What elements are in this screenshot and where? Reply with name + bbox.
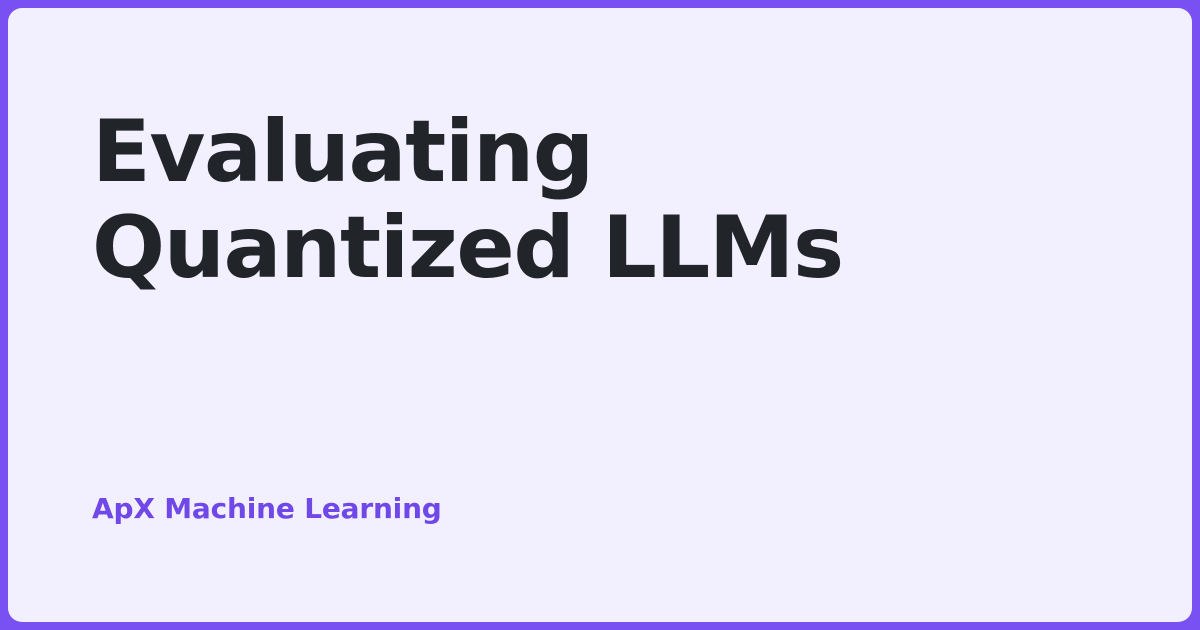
layout-spacer — [92, 297, 1108, 493]
og-card: Evaluating Quantized LLMs ApX Machine Le… — [0, 0, 1200, 630]
title-block: Evaluating Quantized LLMs — [92, 104, 952, 297]
brand-name: ApX Machine Learning — [92, 492, 1108, 526]
footer-block: ApX Machine Learning — [92, 492, 1108, 526]
card-surface: Evaluating Quantized LLMs ApX Machine Le… — [8, 8, 1192, 622]
page-title: Evaluating Quantized LLMs — [92, 104, 952, 297]
